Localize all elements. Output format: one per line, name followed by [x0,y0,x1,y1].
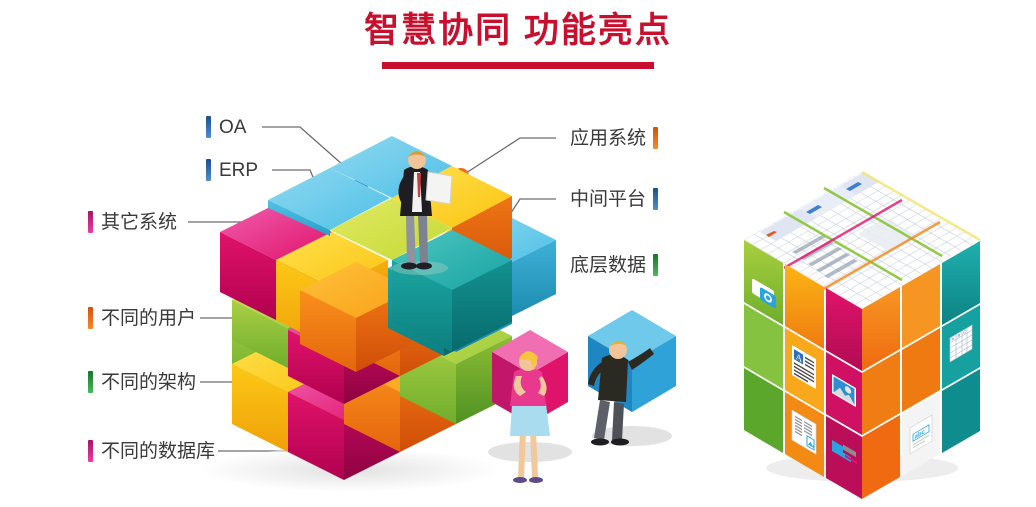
rubiks-app-icon-cube: A [0,0,1036,507]
infographic-canvas: 智慧协同 功能亮点 [0,0,1036,507]
